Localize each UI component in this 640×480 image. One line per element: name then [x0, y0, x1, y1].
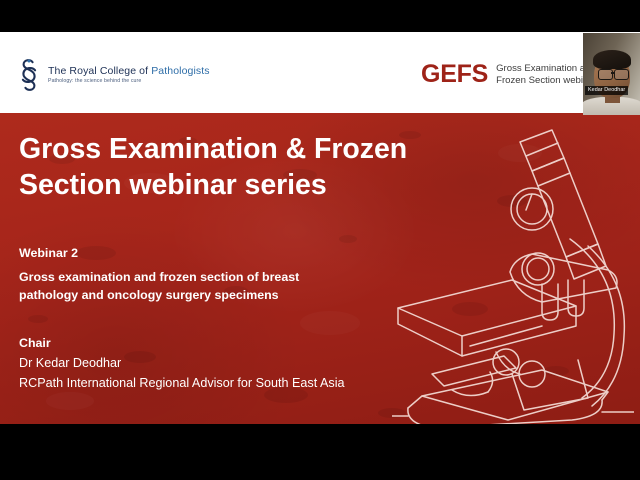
slide-text-content: Gross Examination & Frozen Section webin…: [19, 132, 407, 393]
webcam-participant-name-label: Kedar Deodhar: [585, 86, 628, 95]
webinar-topic: Gross examination and frozen section of …: [19, 268, 379, 305]
webcam-glasses-bridge: [611, 72, 614, 74]
chair-block: Chair Dr Kedar Deodhar RCPath Internatio…: [19, 334, 407, 394]
rcpath-name-part-2: Pathologists: [151, 65, 209, 77]
webcam-glasses-left-lens: [598, 69, 613, 80]
rcpath-name: The Royal College of Pathologists: [48, 66, 210, 77]
webinar-topic-line-1: Gross examination and frozen section of …: [19, 268, 379, 286]
slide-title-line-2: Section webinar series: [19, 168, 407, 204]
webcam-hair: [593, 50, 631, 69]
webinar-topic-line-2: pathology and oncology surgery specimens: [19, 286, 379, 304]
rcpath-name-part-1: The Royal College of: [48, 65, 151, 77]
letterbox-bar-top: [0, 0, 640, 32]
webcam-pip[interactable]: Kedar Deodhar: [583, 33, 640, 115]
letterbox-bar-bottom: [0, 424, 640, 480]
webcam-glasses-right-lens: [614, 69, 629, 80]
presentation-slide: The Royal College of Pathologists Pathol…: [0, 32, 640, 424]
chair-name: Dr Kedar Deodhar: [19, 354, 407, 373]
webcam-video-feed: [583, 33, 640, 115]
slide-body: Gross Examination & Frozen Section webin…: [0, 113, 640, 424]
microscope-icon: [392, 124, 634, 424]
rcpath-section-symbol-icon: [18, 58, 40, 92]
gefs-acronym: GEFS: [421, 62, 488, 87]
rcpath-tagline: Pathology: the science behind the cure: [48, 79, 210, 85]
webinar-number: Webinar 2: [19, 244, 407, 263]
chair-role: RCPath International Regional Advisor fo…: [19, 374, 407, 393]
rcpath-wordmark: The Royal College of Pathologists Pathol…: [48, 66, 210, 85]
video-player-stage: The Royal College of Pathologists Pathol…: [0, 0, 640, 480]
webinar-block: Webinar 2 Gross examination and frozen s…: [19, 244, 407, 304]
chair-label: Chair: [19, 334, 407, 353]
slide-title: Gross Examination & Frozen Section webin…: [19, 132, 407, 203]
slide-header-band: The Royal College of Pathologists Pathol…: [0, 32, 640, 113]
rcpath-logo: The Royal College of Pathologists Pathol…: [18, 58, 210, 92]
slide-title-line-1: Gross Examination & Frozen: [19, 132, 407, 168]
